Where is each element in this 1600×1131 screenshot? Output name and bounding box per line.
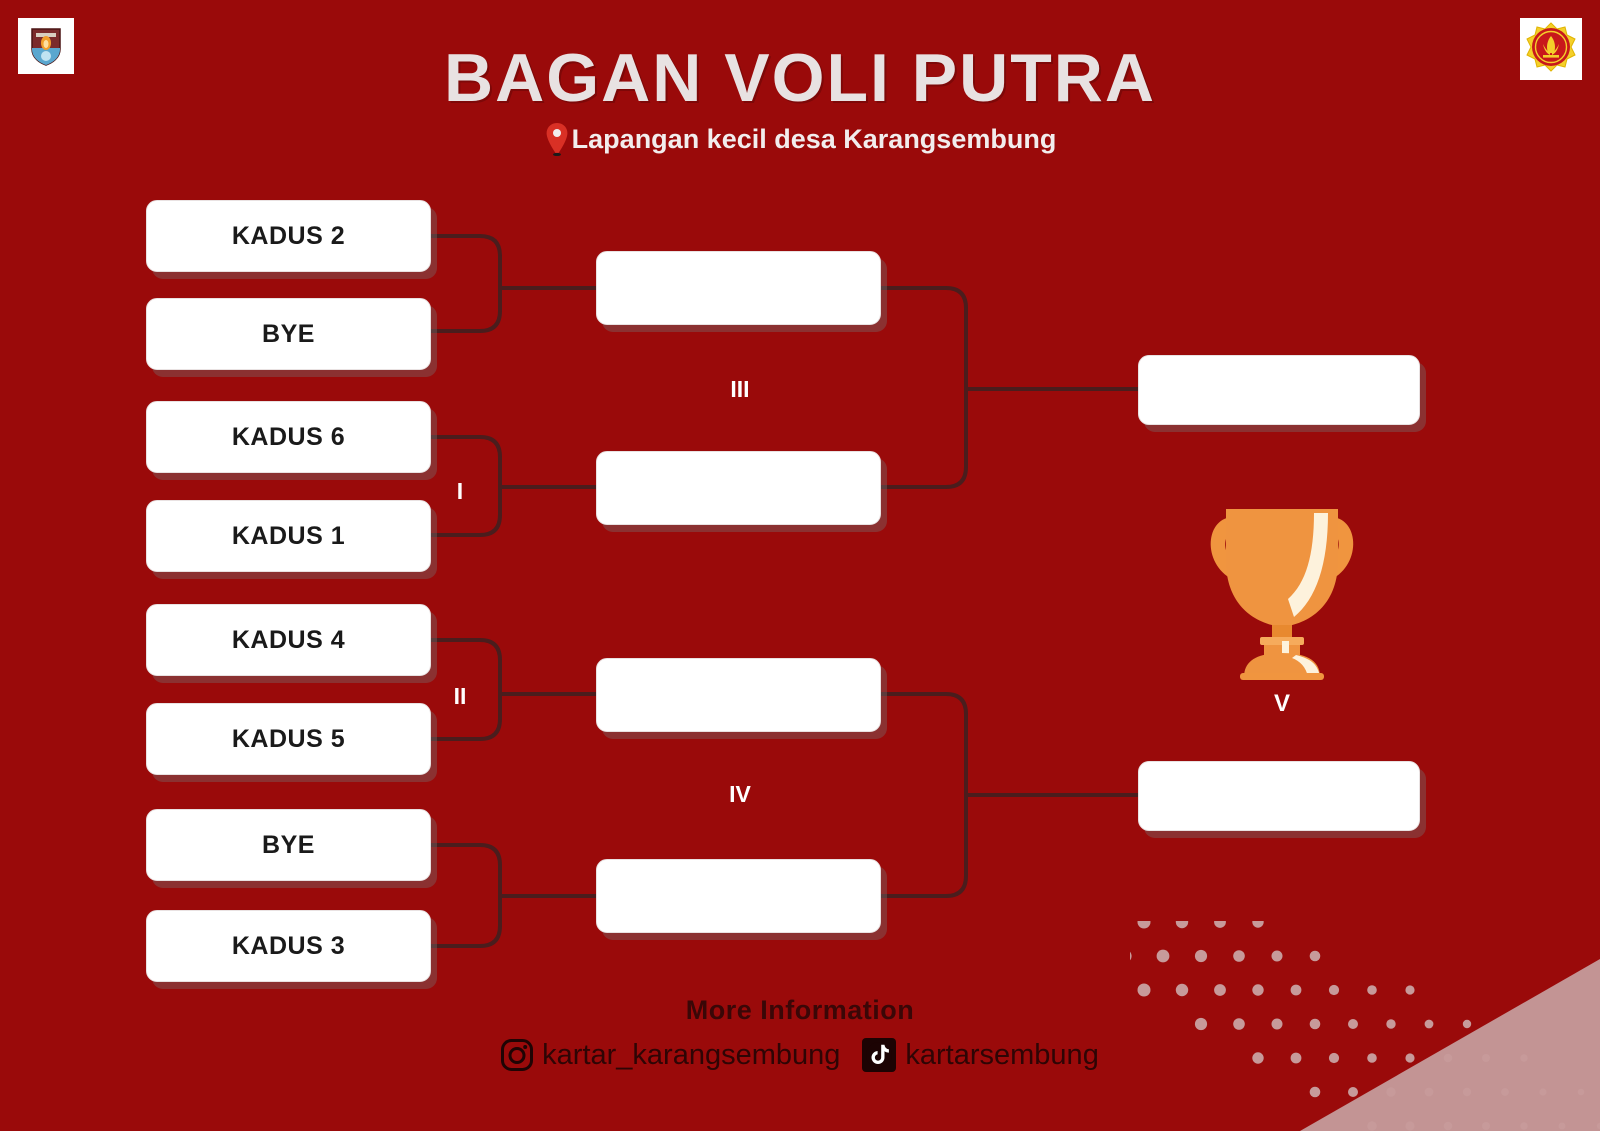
bracket-slot-r1-6[interactable]: KADUS 5 bbox=[146, 703, 431, 775]
bracket-slot-r2-1[interactable] bbox=[596, 251, 881, 325]
slot-label: KADUS 2 bbox=[232, 222, 345, 251]
bracket-slot-r2-2[interactable] bbox=[596, 451, 881, 525]
match-label-2: II bbox=[438, 683, 482, 710]
tiktok-handle: kartarsembung bbox=[905, 1039, 1098, 1072]
slot-label: KADUS 5 bbox=[232, 725, 345, 754]
social-links: kartar_karangsembung kartarsembung bbox=[0, 1038, 1600, 1072]
match-label-3: III bbox=[696, 376, 784, 403]
instagram-link[interactable]: kartar_karangsembung bbox=[501, 1039, 840, 1072]
match-label-1: I bbox=[438, 478, 482, 505]
bracket-slot-r1-8[interactable]: KADUS 3 bbox=[146, 910, 431, 982]
slot-label: BYE bbox=[262, 320, 315, 349]
bracket-slot-r1-5[interactable]: KADUS 4 bbox=[146, 604, 431, 676]
bracket-slot-r3-1[interactable] bbox=[1138, 355, 1420, 425]
trophy-icon bbox=[1196, 495, 1368, 680]
instagram-icon bbox=[501, 1039, 533, 1071]
slot-label: KADUS 6 bbox=[232, 423, 345, 452]
bracket-slot-r1-4[interactable]: KADUS 1 bbox=[146, 500, 431, 572]
bracket-slot-r2-3[interactable] bbox=[596, 658, 881, 732]
bracket-slot-r1-3[interactable]: KADUS 6 bbox=[146, 401, 431, 473]
tiktok-link[interactable]: kartarsembung bbox=[862, 1038, 1098, 1072]
footer: More Information kartar_karangsembung ka… bbox=[0, 995, 1600, 1072]
slot-label: BYE bbox=[262, 831, 315, 860]
match-label-5: V bbox=[1196, 690, 1368, 718]
match-label-4: IV bbox=[696, 781, 784, 808]
slot-label: KADUS 1 bbox=[232, 522, 345, 551]
more-information-heading: More Information bbox=[0, 995, 1600, 1026]
bracket-slot-r3-2[interactable] bbox=[1138, 761, 1420, 831]
bracket-slot-r1-2[interactable]: BYE bbox=[146, 298, 431, 370]
slot-label: KADUS 4 bbox=[232, 626, 345, 655]
bracket-slot-r1-1[interactable]: KADUS 2 bbox=[146, 200, 431, 272]
bracket-slot-r2-4[interactable] bbox=[596, 859, 881, 933]
slot-label: KADUS 3 bbox=[232, 932, 345, 961]
bracket-slot-r1-7[interactable]: BYE bbox=[146, 809, 431, 881]
bracket: KADUS 2 BYE KADUS 6 KADUS 1 KADUS 4 KADU… bbox=[0, 0, 1600, 1131]
instagram-handle: kartar_karangsembung bbox=[542, 1039, 840, 1072]
tiktok-icon bbox=[862, 1038, 896, 1072]
